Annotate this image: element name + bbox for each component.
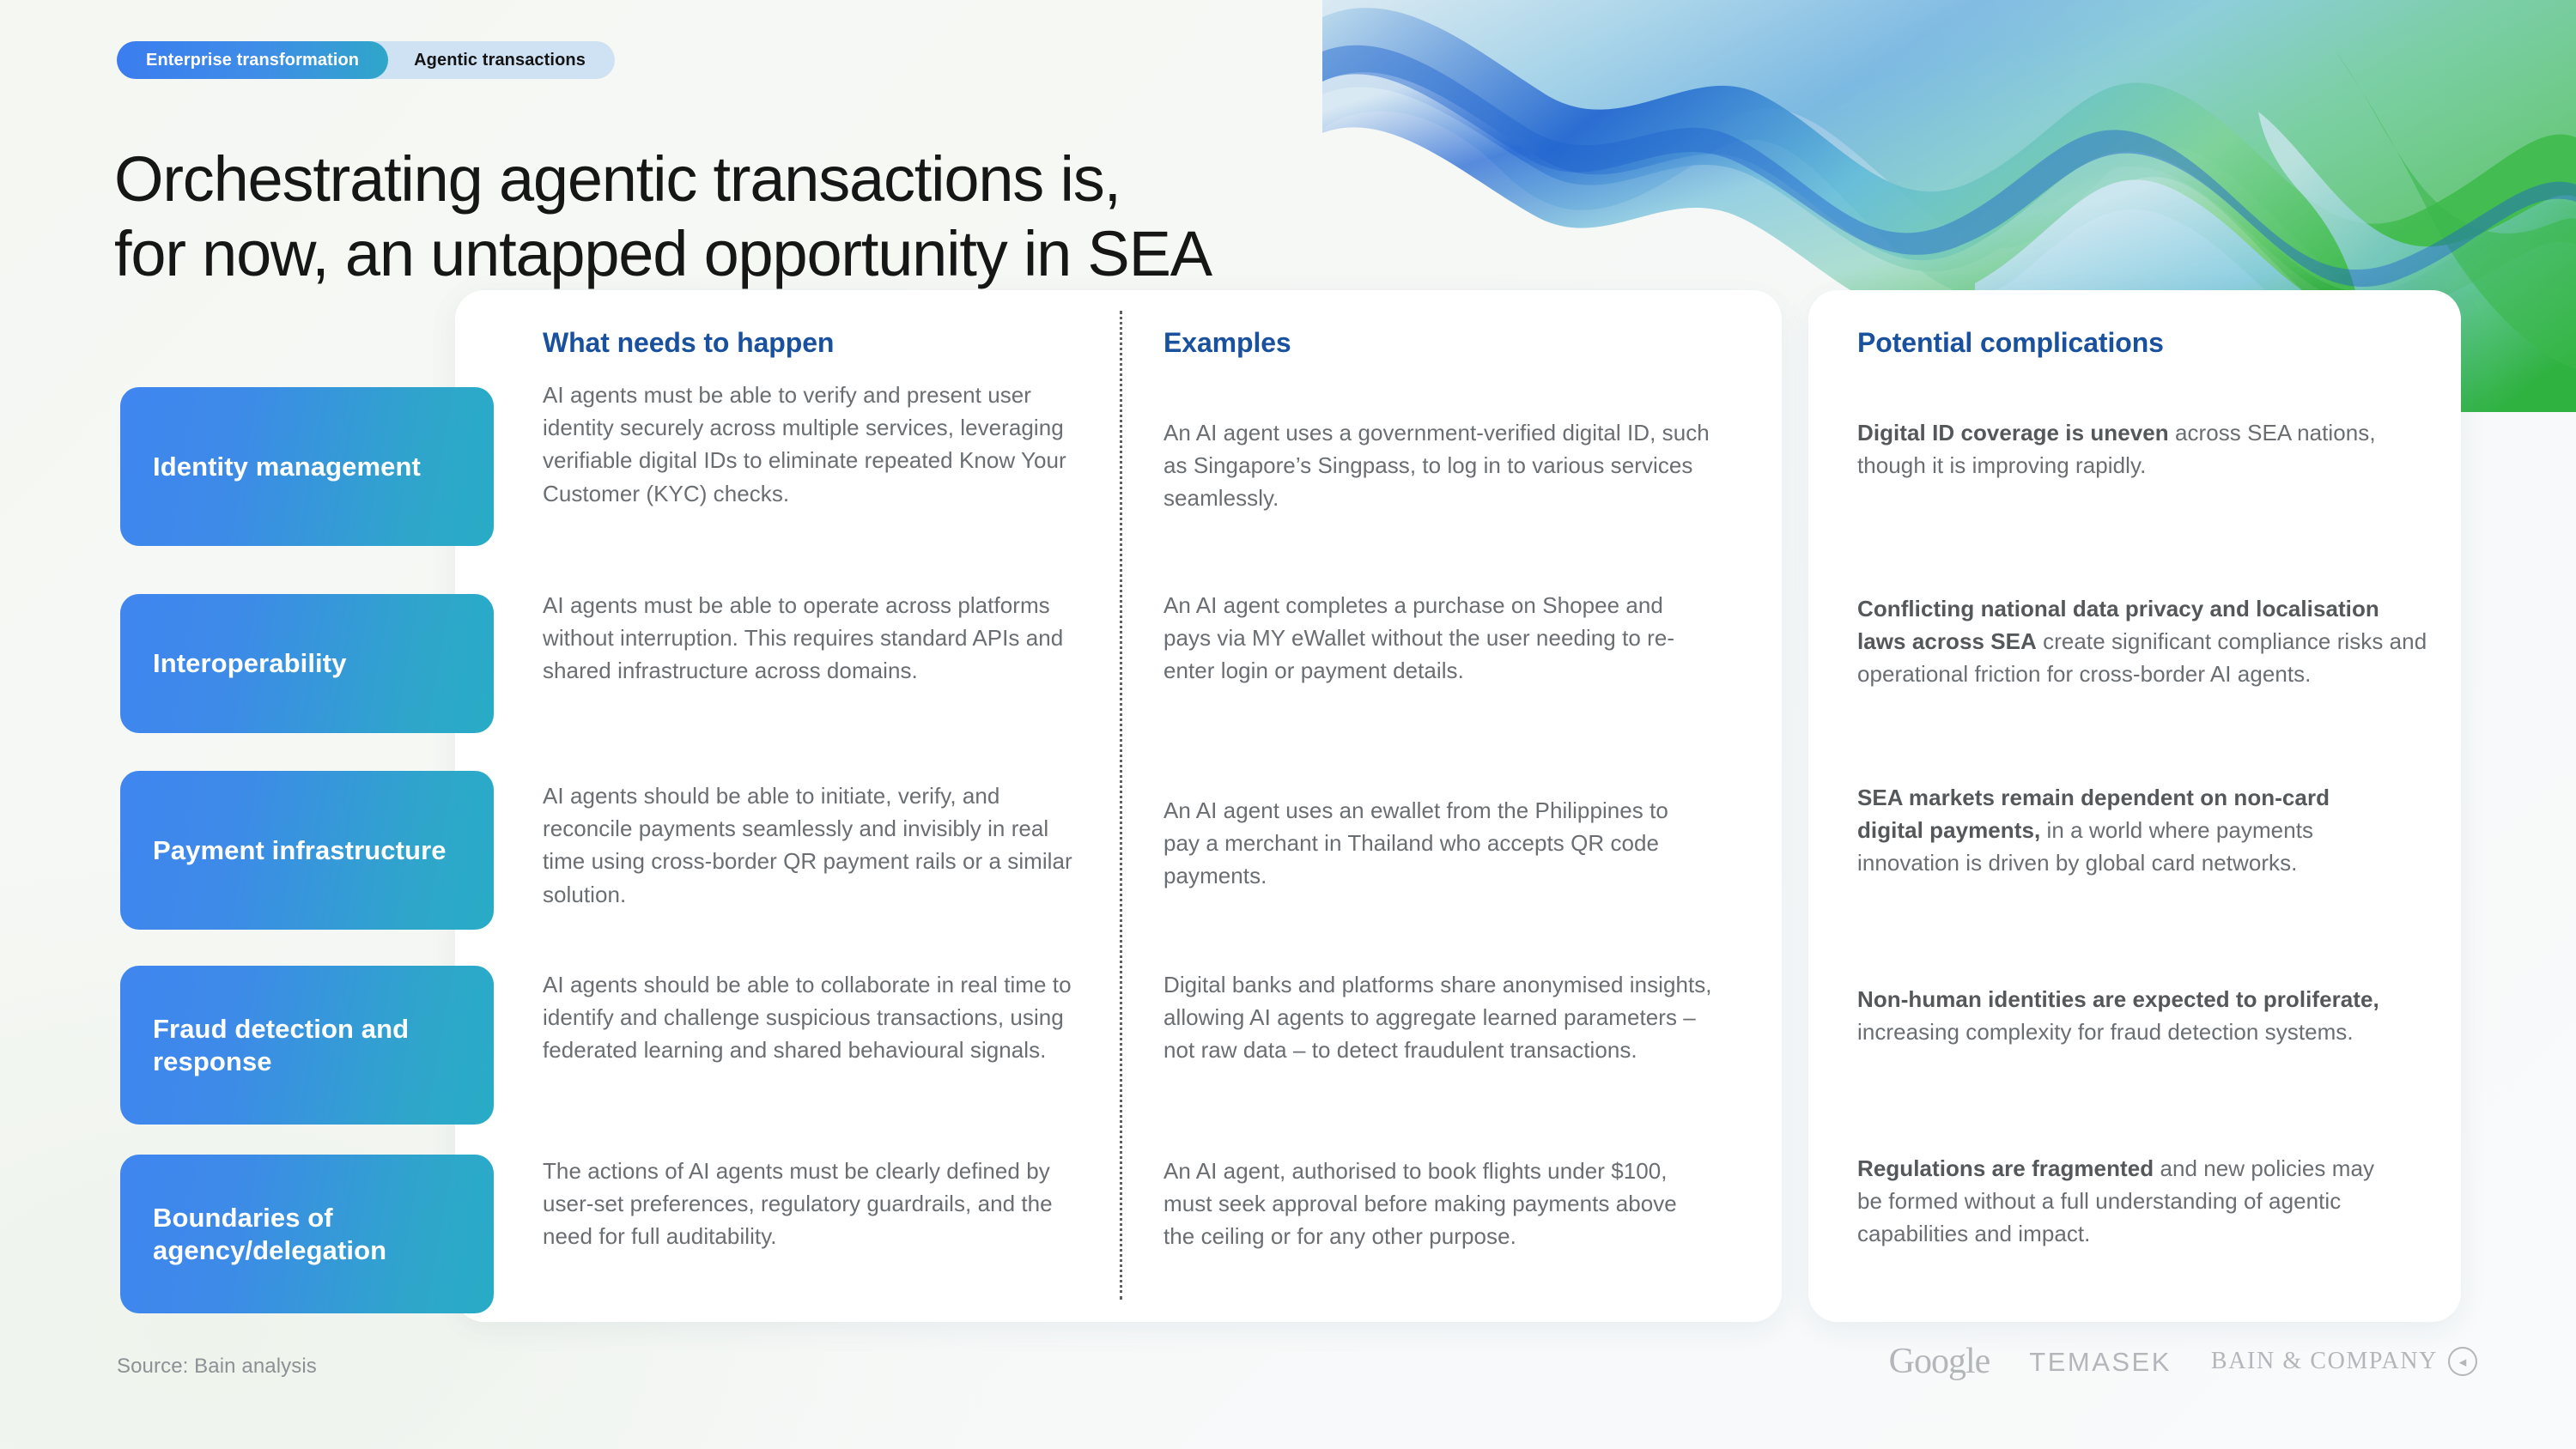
topic-pill-interoperability[interactable]: Interoperability	[120, 594, 494, 733]
bain-logo-text: BAIN & COMPANY	[2211, 1349, 2438, 1373]
topic-pill-payment-infrastructure[interactable]: Payment infrastructure	[120, 771, 494, 930]
what-cell-1: AI agents must be able to operate across…	[543, 589, 1075, 688]
complication-cell-3: Non-human identities are expected to pro…	[1857, 983, 2390, 1048]
example-cell-0: An AI agent uses a government-verified d…	[1163, 416, 1713, 515]
google-logo: Google	[1889, 1343, 1990, 1379]
what-cell-2: AI agents should be able to initiate, ve…	[543, 779, 1085, 911]
complication-cell-0: Digital ID coverage is uneven across SEA…	[1857, 416, 2424, 482]
page-title-line-2: for now, an untapped opportunity in SEA	[114, 216, 1505, 291]
complication-cell-4: Regulations are fragmented and new polic…	[1857, 1152, 2394, 1251]
bain-circle-icon: ◂	[2448, 1347, 2477, 1376]
topic-pill-label: Boundaries of agency/delegation	[153, 1202, 461, 1267]
topic-pill-identity-management[interactable]: Identity management	[120, 387, 494, 546]
column-header-examples: Examples	[1163, 327, 1291, 359]
partner-logos: Google TEMASEK BAIN & COMPANY ◂	[1889, 1343, 2477, 1379]
topic-pill-label: Identity management	[153, 451, 421, 483]
page-title-line-1: Orchestrating agentic transactions is,	[114, 142, 1505, 216]
example-cell-1: An AI agent completes a purchase on Shop…	[1163, 589, 1679, 688]
example-cell-2: An AI agent uses an ewallet from the Phi…	[1163, 794, 1704, 893]
complication-cell-1: Conflicting national data privacy and lo…	[1857, 592, 2428, 691]
column-header-potential-complications: Potential complications	[1857, 327, 2164, 359]
tab-enterprise-transformation[interactable]: Enterprise transformation	[117, 41, 388, 79]
what-cell-4: The actions of AI agents must be clearly…	[543, 1155, 1075, 1253]
topic-pill-label: Fraud detection and response	[153, 1013, 461, 1078]
topic-pill-label: Interoperability	[153, 647, 347, 680]
what-cell-3: AI agents should be able to collaborate …	[543, 968, 1085, 1067]
complication-rest-3: increasing complexity for fraud detectio…	[1857, 1019, 2354, 1045]
complication-lead-0: Digital ID coverage is uneven	[1857, 420, 2169, 446]
topic-pill-fraud-detection-and-response[interactable]: Fraud detection and response	[120, 966, 494, 1125]
tab-bar[interactable]: Enterprise transformation Agentic transa…	[117, 41, 615, 79]
what-cell-0: AI agents must be able to verify and pre…	[543, 379, 1085, 510]
topic-pill-label: Payment infrastructure	[153, 834, 447, 867]
bain-and-company-logo: BAIN & COMPANY ◂	[2211, 1347, 2477, 1376]
tab-agentic-transactions[interactable]: Agentic transactions	[369, 41, 615, 79]
complication-cell-2: SEA markets remain dependent on non-card…	[1857, 781, 2390, 880]
topic-pill-boundaries-of-agency-delegation[interactable]: Boundaries of agency/delegation	[120, 1155, 494, 1313]
example-cell-3: Digital banks and platforms share anonym…	[1163, 968, 1713, 1067]
temasek-logo: TEMASEK	[2029, 1349, 2172, 1375]
example-cell-4: An AI agent, authorised to book flights …	[1163, 1155, 1700, 1253]
page-title: Orchestrating agentic transactions is, f…	[114, 142, 1505, 292]
complication-lead-3: Non-human identities are expected to pro…	[1857, 986, 2379, 1012]
column-header-what-needs-to-happen: What needs to happen	[543, 327, 834, 359]
complication-lead-4: Regulations are fragmented	[1857, 1155, 2154, 1181]
column-divider	[1120, 311, 1122, 1300]
source-note: Source: Bain analysis	[117, 1355, 317, 1379]
